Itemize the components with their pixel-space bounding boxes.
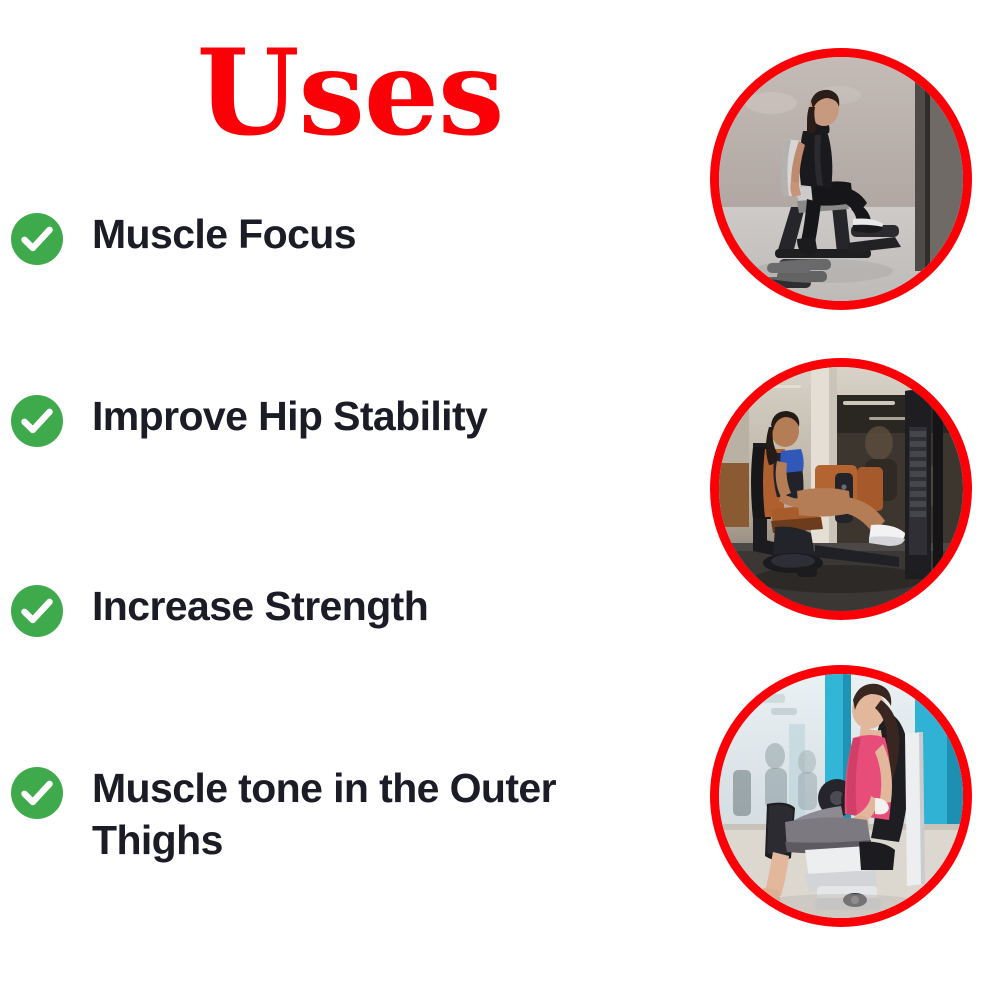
green-check-circle-icon	[10, 584, 64, 638]
green-check-circle-icon	[10, 766, 64, 820]
list-item-label: Increase Strength	[92, 580, 677, 632]
list-item-label: Muscle Focus	[92, 208, 677, 260]
list-item: Improve Hip Stability	[0, 390, 690, 448]
list-item-label: Improve Hip Stability	[92, 390, 677, 442]
list-item: Muscle tone in the Outer Thighs	[0, 762, 690, 867]
list-item: Increase Strength	[0, 580, 690, 638]
photo-hip-abduction-machine-black-outfit	[710, 48, 972, 310]
green-check-circle-icon	[10, 212, 64, 266]
list-item: Muscle Focus	[0, 208, 690, 266]
list-item-label: Muscle tone in the Outer Thighs	[92, 762, 677, 867]
uses-infographic-poster: Uses Muscle Focus Improve Hip Stability	[0, 0, 1000, 1000]
green-check-circle-icon	[10, 394, 64, 448]
photo-hip-abduction-machine-blue-top	[710, 358, 972, 620]
photo-hip-abduction-machine-pink-top	[710, 665, 972, 927]
page-title: Uses	[0, 34, 700, 152]
